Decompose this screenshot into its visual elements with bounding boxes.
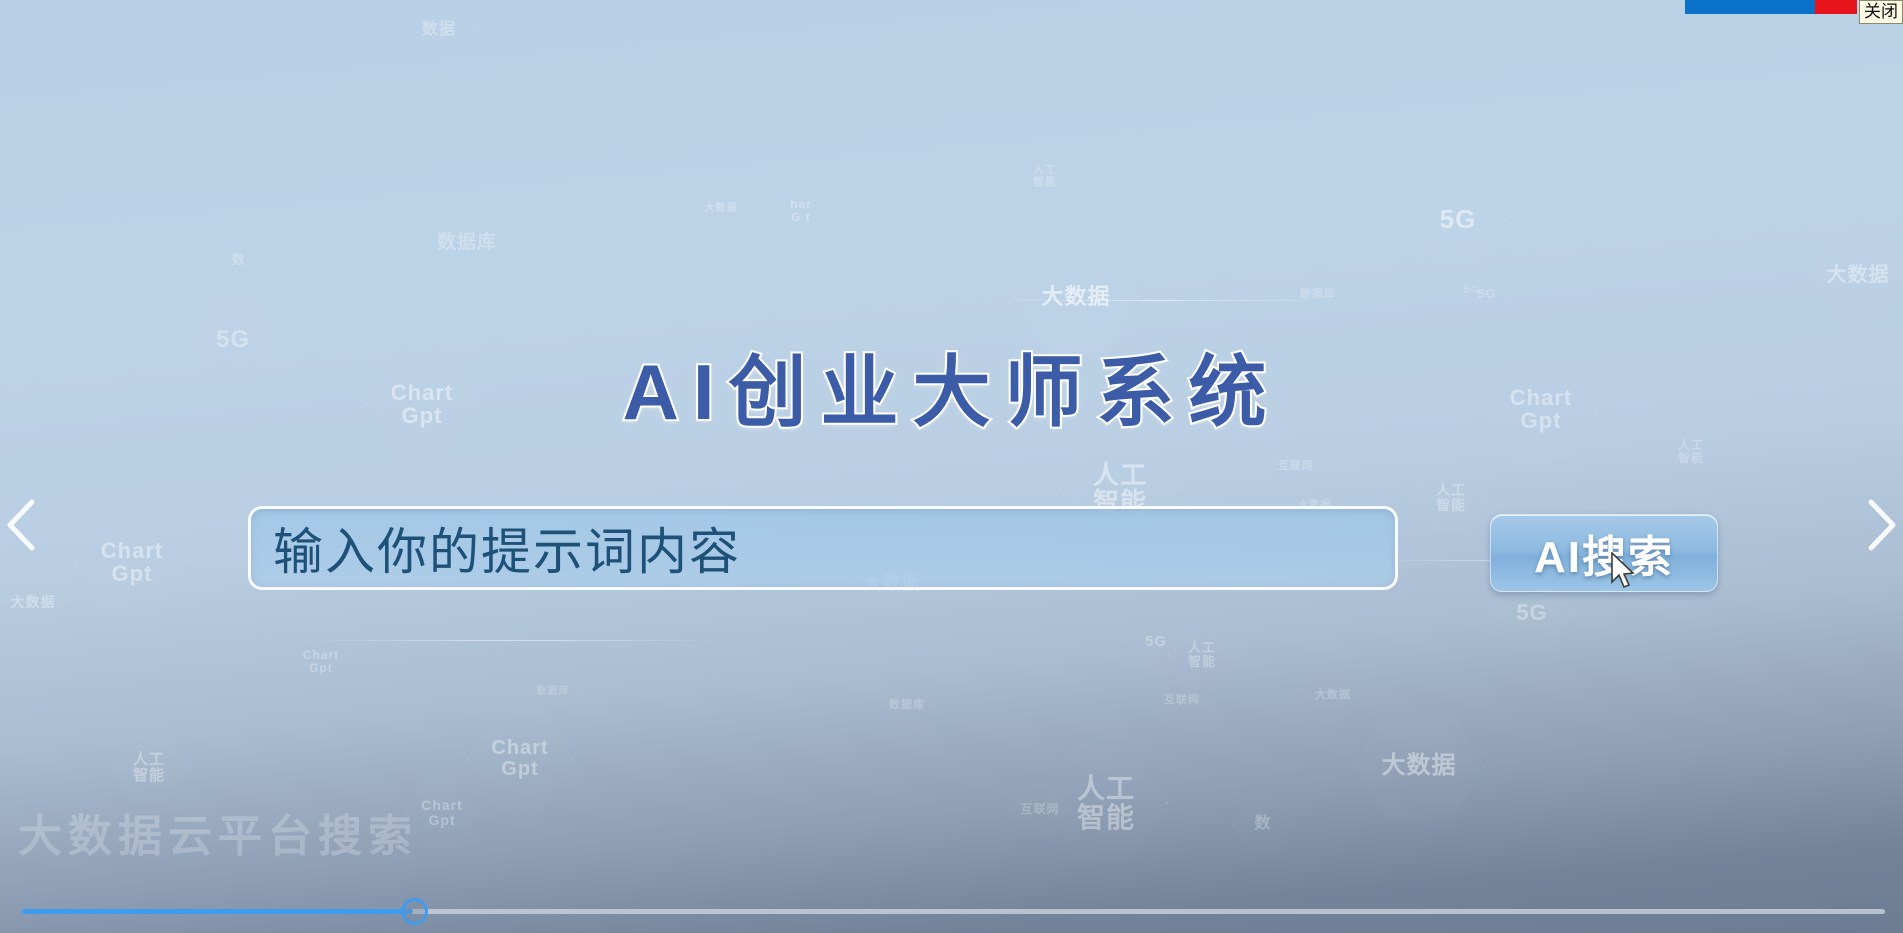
background-hex-tag: 大数据	[1354, 708, 1484, 824]
background-hex-tag: ChartGpt	[468, 706, 572, 812]
background-hex-label: 互联网	[1020, 803, 1059, 816]
background-hex-label: 5G	[1477, 287, 1496, 301]
background-hex-tag: 5G	[1411, 172, 1505, 268]
background-hex-label: 5G	[1464, 285, 1481, 297]
background-hex-tag: 大数据	[695, 182, 747, 236]
background-hex-label: 5G	[1516, 601, 1547, 624]
background-hex-label: 互联网	[1164, 695, 1200, 707]
background-hex-tag: 5G	[1450, 268, 1494, 314]
app-window: 数据库大数据大数据harG t5G5G大数据数5GChartGptChartGp…	[0, 0, 1903, 933]
glow-line	[980, 300, 1340, 301]
background-hex-label: 大数据	[705, 204, 738, 215]
tech-background-layer: 数据库大数据大数据harG t5G5G大数据数5GChartGptChartGp…	[0, 0, 1903, 933]
background-hex-label: 数据库	[437, 233, 497, 253]
prompt-input-placeholder: 输入你的提示词内容	[273, 512, 741, 584]
carousel-next-button[interactable]	[1857, 494, 1901, 556]
background-hex-tag: 数据库	[528, 666, 578, 718]
background-hex-label: ChartGpt	[421, 798, 463, 827]
background-hex-label: 数	[232, 253, 246, 267]
background-hex-tag: 数据库	[880, 678, 934, 734]
background-hex-label: 数据库	[537, 687, 570, 698]
ai-search-button[interactable]: AI搜索	[1490, 514, 1718, 592]
background-hex-label: 数	[1254, 816, 1271, 833]
background-hex-label: 5G	[1145, 634, 1167, 650]
background-hex-label: harG t	[790, 198, 812, 223]
background-hex-label: 大数据	[1382, 753, 1457, 778]
background-hex-tag: 互联网	[1010, 778, 1070, 840]
progress-slider[interactable]	[0, 889, 1903, 933]
background-hex-tag: 5G	[1462, 268, 1512, 320]
background-hex-label: 大数据	[1827, 265, 1890, 286]
background-hex-tag: 人工智能	[112, 730, 186, 806]
background-hex-tag: 人工智能	[1017, 148, 1073, 206]
close-button[interactable]	[1815, 0, 1857, 14]
window-controls: 关闭	[1685, 0, 1903, 22]
background-hex-label: 人工智能	[1033, 165, 1057, 188]
background-hex-label: 数据	[422, 22, 456, 39]
search-row: 输入你的提示词内容 AI搜索	[0, 506, 1903, 598]
background-hex-label: 人工智能	[1188, 641, 1216, 668]
background-hex-tag: 数	[214, 234, 264, 286]
background-hex-tag: 数据库	[405, 180, 529, 306]
slider-handle[interactable]	[401, 898, 428, 925]
background-hex-label: 人工智能	[1077, 774, 1135, 833]
background-hex-tag: 5G	[1127, 612, 1185, 672]
background-hex-tag: 人工智能	[1168, 620, 1236, 690]
background-hex-tag: 数据库	[1290, 266, 1346, 324]
background-hex-tag: harG t	[766, 175, 836, 247]
background-hex-tag: 数	[1232, 792, 1294, 856]
background-hex-label: 人工智能	[133, 752, 165, 784]
close-tooltip: 关闭	[1859, 0, 1903, 24]
page-title: AI创业大师系统	[0, 330, 1903, 442]
background-hex-label: ChartGpt	[491, 738, 548, 780]
background-hex-label: 大数据	[1315, 690, 1351, 702]
background-hex-label: 大数据	[1041, 285, 1110, 308]
background-hex-label: 数据库	[889, 700, 925, 712]
glow-line	[300, 640, 720, 641]
background-hex-label: 互联网	[1278, 461, 1314, 473]
background-hex-label: 人工智能	[1678, 439, 1704, 464]
background-hex-tag: 互联网	[1268, 438, 1324, 496]
slider-fill	[22, 909, 413, 914]
background-hex-tag: 人工智能	[1044, 740, 1168, 866]
background-hex-tag: 互联网	[1154, 672, 1210, 730]
background-hex-label: 5G	[1440, 206, 1477, 233]
background-hex-label: ChartGpt	[303, 649, 339, 674]
background-hex-tag: 大数据	[1306, 668, 1360, 724]
background-watermark: 大数据云平台搜索	[18, 800, 418, 864]
background-hex-tag: 数据	[400, 0, 478, 60]
titlebar-blue-segment	[1685, 0, 1815, 14]
carousel-prev-button[interactable]	[2, 494, 46, 556]
prompt-input[interactable]: 输入你的提示词内容	[248, 506, 1398, 590]
background-hex-tag: 大数据	[1808, 225, 1903, 325]
